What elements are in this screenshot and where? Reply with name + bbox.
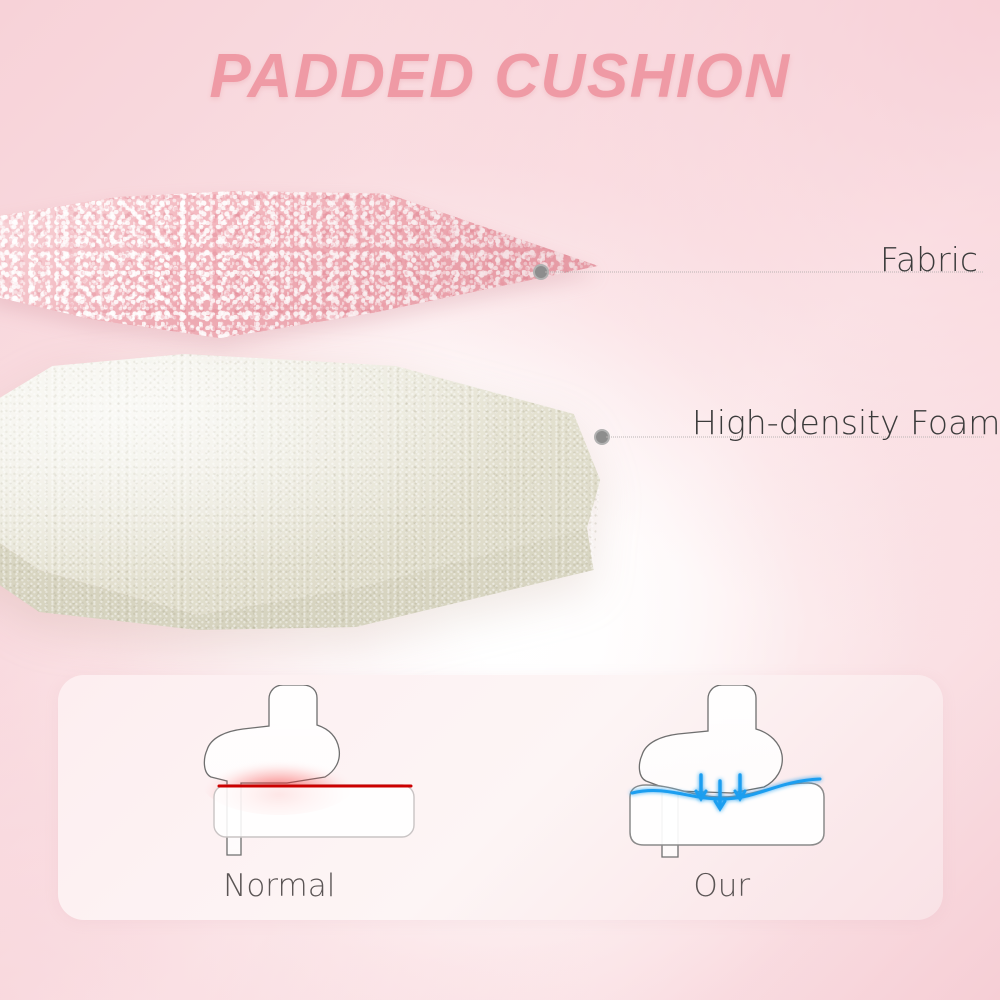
page-title: PADDED CUSHION <box>0 46 1000 108</box>
comparison-label-normal: Normal <box>58 868 501 904</box>
exploded-product-illustration <box>0 180 710 630</box>
normal-figure-svg <box>119 685 439 865</box>
normal-illustration <box>119 685 439 865</box>
comparison-label-our: Our <box>501 868 944 904</box>
comparison-our: Our <box>501 675 944 920</box>
flat-cushion <box>214 785 414 837</box>
our-figure-svg <box>562 685 882 865</box>
foam-layer <box>0 330 620 630</box>
comparison-panel: Normal <box>58 675 943 920</box>
our-illustration <box>562 685 882 865</box>
comparison-normal: Normal <box>58 675 501 920</box>
callout-label-foam: High-density Foam <box>692 403 1000 442</box>
product-infographic: PADDED CUSHION Fabric High-density Foam <box>0 0 1000 1000</box>
callout-label-fabric: Fabric <box>880 240 978 279</box>
